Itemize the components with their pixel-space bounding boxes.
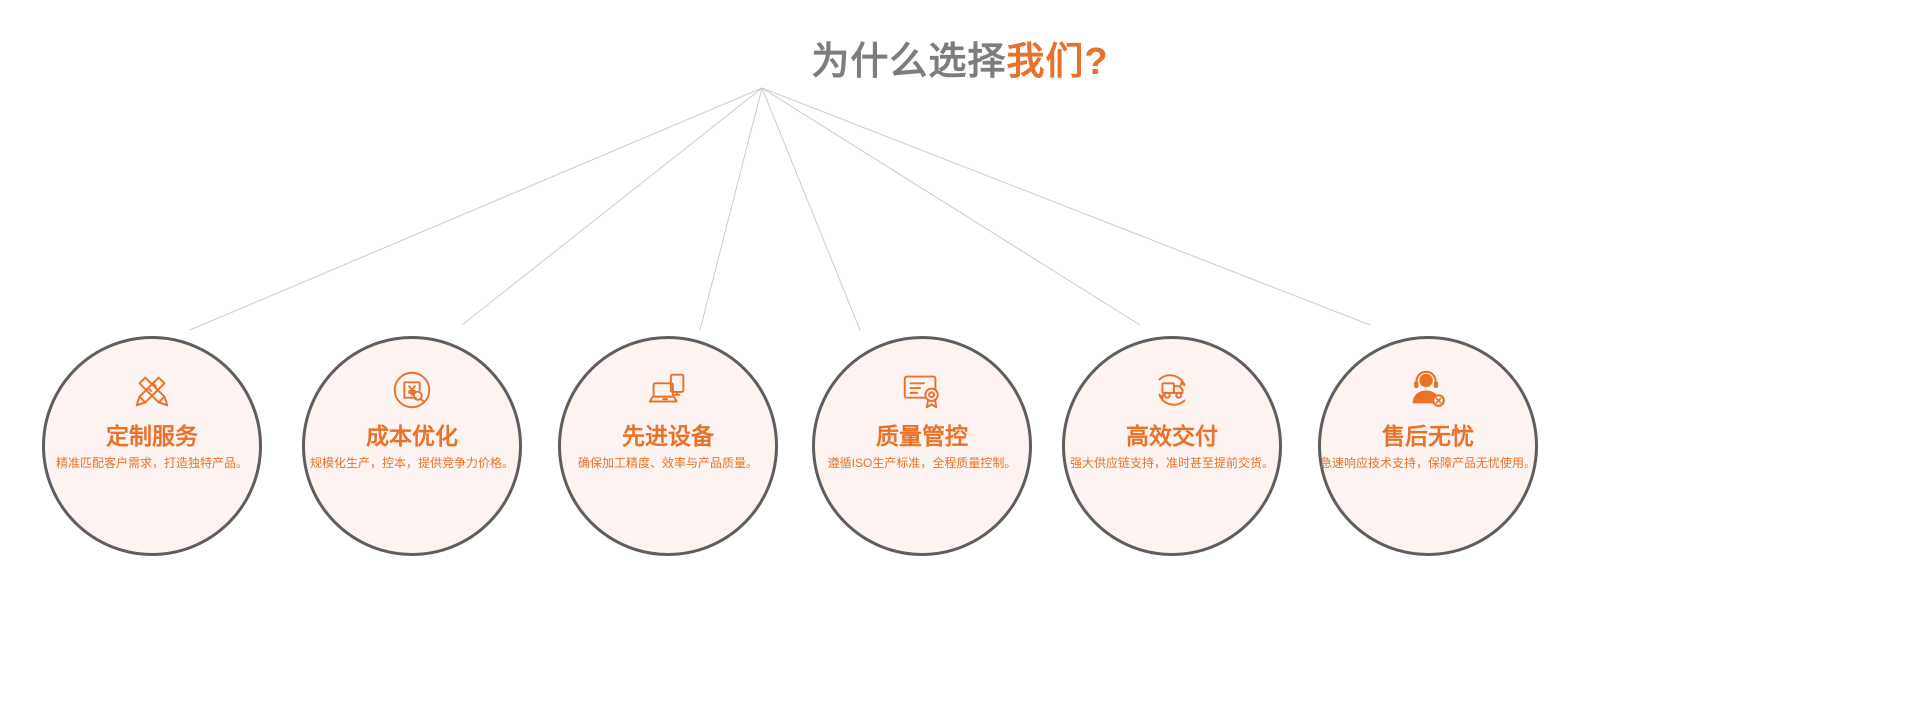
- feature-desc: 精准匹配客户需求，打造独特产品。: [56, 456, 248, 472]
- headset-support-icon: [1405, 367, 1451, 413]
- certificate-icon: [899, 367, 945, 413]
- feature-desc: 强大供应链支持，准时甚至提前交货。: [1070, 456, 1274, 472]
- feature-desc: 急速响应技术支持，保障产品无忧使用。: [1320, 456, 1536, 472]
- feature-desc: 确保加工精度、效率与产品质量。: [578, 456, 758, 472]
- feature-circle[interactable]: 售后无忧 急速响应技术支持，保障产品无忧使用。: [1318, 336, 1538, 556]
- connector-line-0: [190, 88, 762, 330]
- feature-desc: 遵循ISO生产标准，全程质量控制。: [828, 456, 1017, 472]
- connector-line-1: [462, 88, 762, 325]
- feature-title: 售后无忧: [1382, 423, 1474, 449]
- page-title: 为什么选择我们?: [0, 30, 1920, 85]
- feature-title: 成本优化: [366, 423, 458, 449]
- page-title-main: 为什么选择: [811, 41, 1006, 83]
- delivery-truck-icon: [1149, 367, 1195, 413]
- connector-line-4: [762, 88, 1140, 325]
- why-choose-us-section: 为什么选择我们? 定制服务 精准匹配客户需求，打造独特产品。: [0, 0, 1920, 719]
- page-title-accent: 我们?: [1006, 41, 1108, 83]
- cost-search-icon: [389, 367, 435, 413]
- connector-line-3: [762, 88, 860, 330]
- feature-title: 定制服务: [106, 423, 198, 449]
- ruler-pen-icon: [129, 367, 175, 413]
- feature-title: 高效交付: [1126, 423, 1218, 449]
- feature-circle[interactable]: 先进设备 确保加工精度、效率与产品质量。: [558, 336, 778, 556]
- feature-circle[interactable]: 高效交付 强大供应链支持，准时甚至提前交货。: [1062, 336, 1282, 556]
- computer-equipment-icon: [645, 367, 691, 413]
- feature-title: 质量管控: [876, 423, 968, 449]
- connector-line-2: [700, 88, 762, 330]
- feature-circle[interactable]: 定制服务 精准匹配客户需求，打造独特产品。: [42, 336, 262, 556]
- feature-title: 先进设备: [622, 423, 714, 449]
- feature-circle[interactable]: 质量管控 遵循ISO生产标准，全程质量控制。: [812, 336, 1032, 556]
- connector-line-5: [762, 88, 1370, 325]
- feature-circle[interactable]: 成本优化 规模化生产，控本，提供竞争力价格。: [302, 336, 522, 556]
- feature-desc: 规模化生产，控本，提供竞争力价格。: [310, 456, 514, 472]
